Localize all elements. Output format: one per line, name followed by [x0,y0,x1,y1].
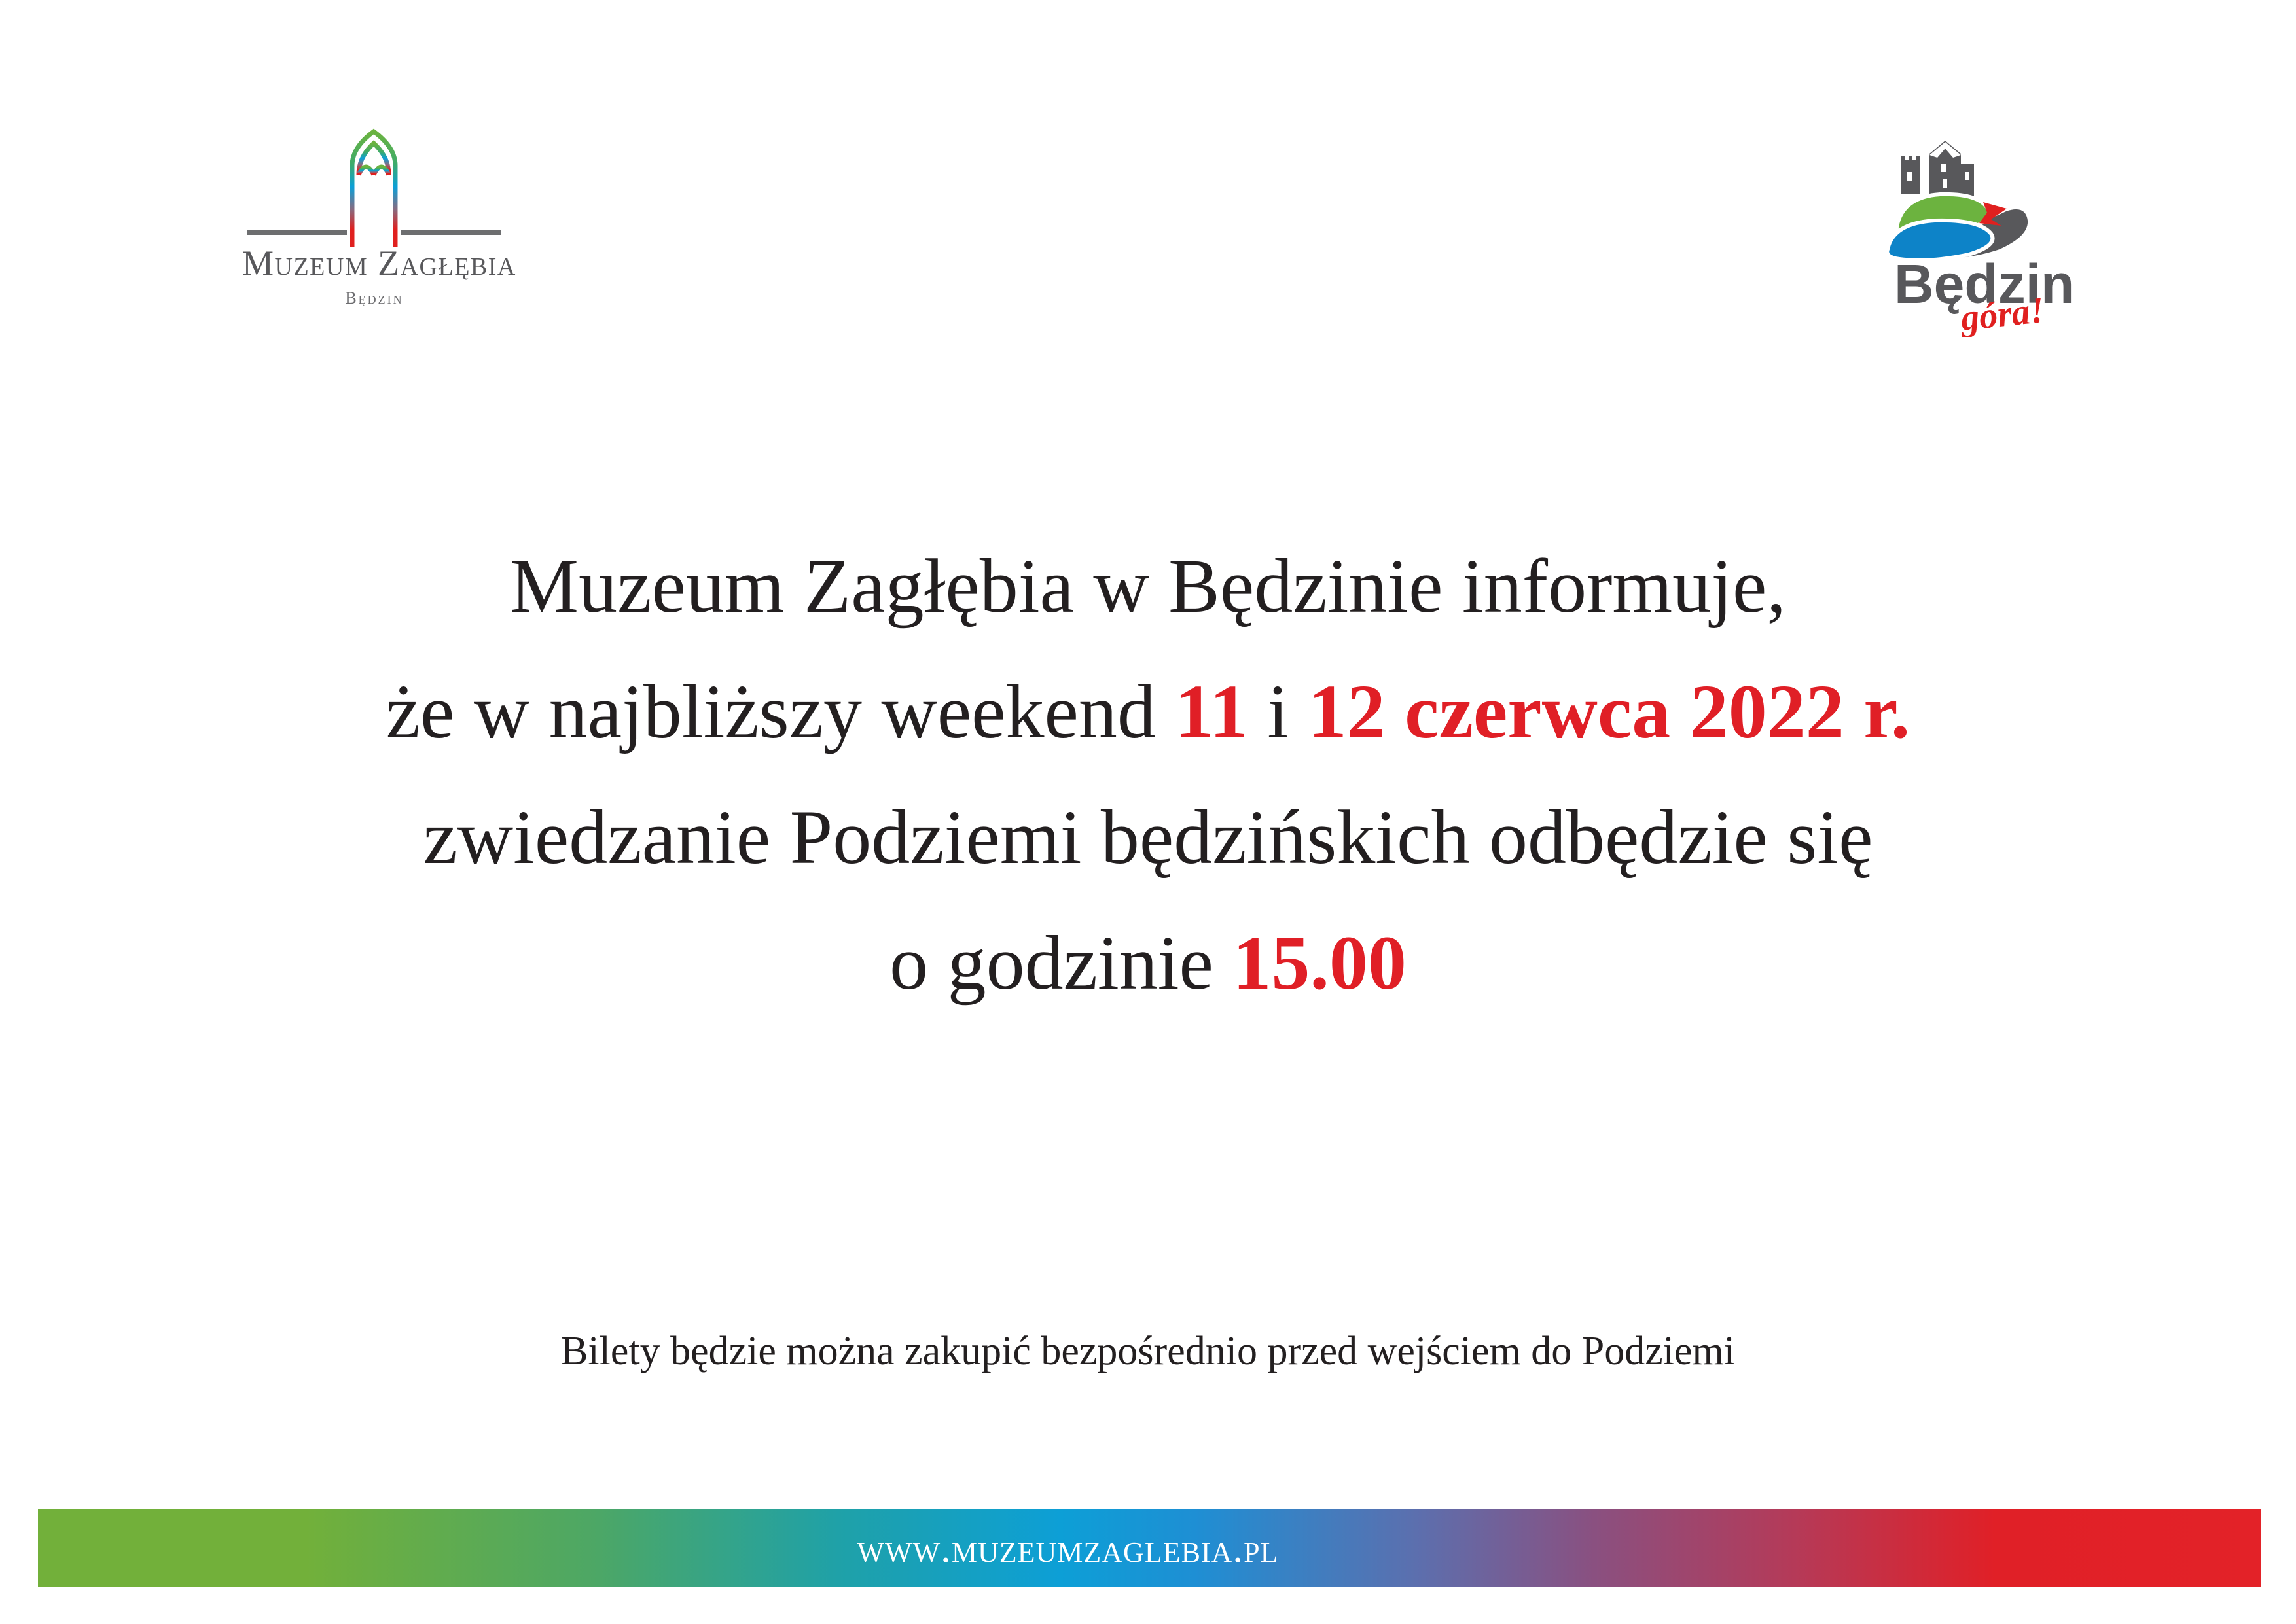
message-line-2-plain-a: że w najbliższy weekend [386,669,1175,754]
museum-logo-city: Będzin [242,289,507,308]
bedzin-slogan: góra! [1958,290,2046,337]
message-time: 15.00 [1232,920,1407,1006]
logo-rule-left [247,230,347,235]
message-line-1-text: Muzeum Zagłębia w Będzinie informuje, [510,543,1786,629]
message-line-1: Muzeum Zagłębia w Będzinie informuje, [0,523,2296,649]
message-date-full: 12 czerwca 2022 r. [1308,669,1910,754]
message-line-3-text: zwiedzanie Podziemi będzińskich odbędzie… [423,794,1873,880]
bedzin-castle-hill-icon: Będzin góra! [1885,134,2101,337]
message-line-2-plain-b: i [1248,669,1308,754]
message-line-4-plain: o godzinie [889,920,1232,1006]
message-line-3: zwiedzanie Podziemi będzińskich odbędzie… [0,775,2296,900]
message-date-day-11: 11 [1175,669,1248,754]
footer-gradient-bar: www.muzeumzaglebia.pl [38,1509,2261,1587]
bedzin-city-logo: Będzin góra! [1885,134,2101,337]
message-line-4: o godzinie 15.00 [0,900,2296,1026]
main-message: Muzeum Zagłębia w Będzinie informuje, że… [0,523,2296,1026]
museum-logo: Muzeum Zagłębia Będzin [242,128,556,344]
museum-logo-name: Muzeum Zagłębia [242,243,507,283]
footer-website-url[interactable]: www.muzeumzaglebia.pl [0,1525,2179,1572]
message-line-2: że w najbliższy weekend 11 i 12 czerwca … [0,649,2296,775]
logo-rule-right [401,230,501,235]
ticket-info-note: Bilety będzie można zakupić bezpośrednio… [0,1328,2296,1375]
gothic-window-icon [348,128,399,249]
